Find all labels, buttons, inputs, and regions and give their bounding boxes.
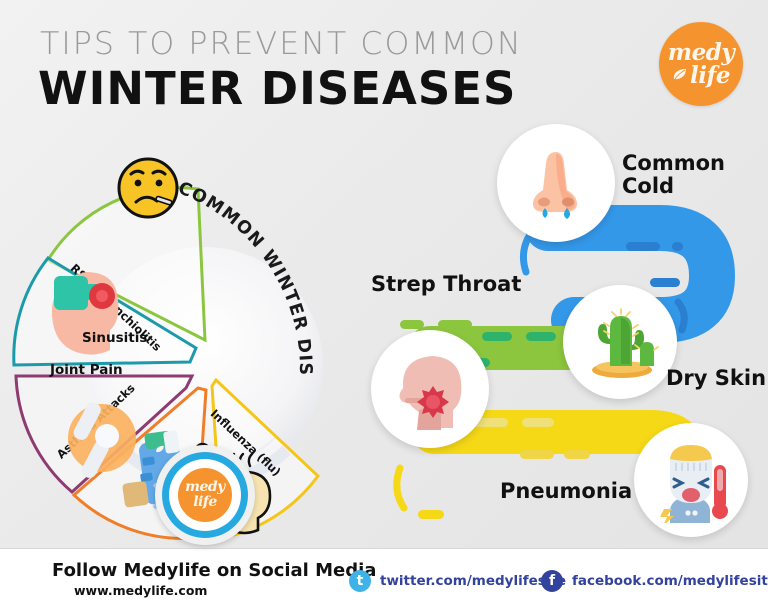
path-dash-yellow-3: [522, 418, 554, 427]
wedge-label-joint-pain: Joint Pain: [50, 362, 123, 378]
bubble-strep-throat[interactable]: [371, 330, 489, 448]
wheel-diagram: TOP COMMON WINTER DISEASES RSV / Bronchi…: [0, 140, 360, 540]
sick-face-emoji-icon: [119, 159, 177, 217]
path-dash-yellow-6: [418, 510, 444, 519]
center-logo-line-2: life: [193, 496, 217, 509]
label-dry-skin: Dry Skin: [666, 367, 766, 390]
social-twitter[interactable]: t twitter.com/medylifesite: [349, 570, 566, 592]
footer-follow-text: Follow Medylife on Social Media: [52, 560, 376, 581]
path-dash-green-1: [482, 332, 512, 341]
label-common-cold-text: CommonCold: [622, 151, 725, 198]
path-dash-green-3: [400, 320, 424, 329]
path-dash-yellow-5: [564, 450, 590, 459]
center-white-gap: medy life: [169, 459, 241, 531]
sick-child-thermometer-icon: [648, 437, 734, 523]
logo-line-1: medy: [668, 42, 734, 64]
brand-logo: medy life: [659, 22, 743, 106]
path-dash-green-4: [438, 320, 472, 329]
runny-nose-icon: [519, 146, 593, 220]
path-dash-yellow-4: [520, 450, 554, 459]
logo-line-2: life: [690, 65, 730, 87]
path-dash-blue-3: [650, 278, 680, 287]
leaf-icon: [155, 445, 165, 454]
label-pneumonia: Pneumonia: [500, 480, 632, 503]
path-dash-green-2: [526, 332, 556, 341]
bubble-dry-skin[interactable]: [563, 285, 677, 399]
label-common-cold: CommonCold: [622, 152, 725, 197]
center-logo: medy life: [178, 468, 232, 522]
sore-throat-head-icon: [389, 348, 471, 430]
twitter-icon: t: [349, 570, 371, 592]
twitter-handle: twitter.com/medylifesite: [380, 573, 566, 589]
bubble-common-cold[interactable]: [497, 124, 615, 242]
infographic-canvas: TIPS TO PREVENT COMMON WINTER DISEASES m…: [0, 0, 768, 610]
center-logo-line-1: medy: [185, 481, 225, 494]
wheel-center-medallion: medy life: [155, 445, 255, 545]
footer-website: www.medylife.com: [74, 583, 207, 598]
page-title: WINTER DISEASES: [38, 62, 516, 115]
social-facebook[interactable]: f facebook.com/medylifesite: [541, 570, 768, 592]
cactus-icon: [580, 304, 660, 380]
facebook-handle: facebook.com/medylifesite: [572, 573, 768, 589]
header-subtitle: TIPS TO PREVENT COMMON: [40, 26, 523, 62]
wedge-label-sinusitis: Sinusitis: [82, 330, 147, 346]
label-strep-throat: Strep Throat: [371, 273, 521, 296]
path-dash-blue-1: [626, 242, 660, 251]
center-ring: medy life: [162, 452, 248, 538]
path-accent-yellow-1: [397, 468, 404, 508]
path-dash-yellow-1: [510, 410, 542, 419]
facebook-icon: f: [541, 570, 563, 592]
path-accent-blue-1: [523, 238, 528, 272]
bubble-pneumonia[interactable]: [634, 423, 748, 537]
leaf-icon: [672, 68, 688, 82]
path-dash-blue-2: [672, 242, 683, 251]
